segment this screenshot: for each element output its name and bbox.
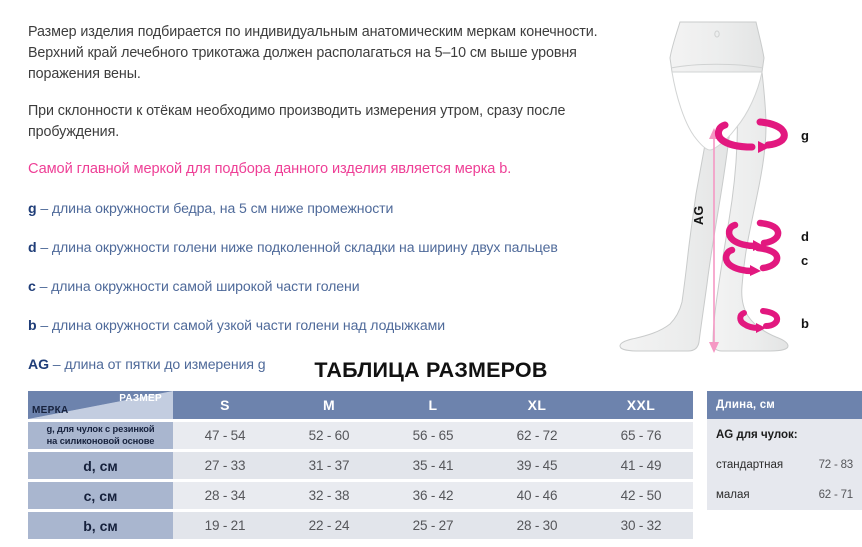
column-header-s: S: [173, 391, 277, 419]
column-header-xl: XL: [485, 391, 589, 419]
measurement-definition-b: b – длина окружности самой узкой части г…: [28, 315, 628, 335]
ag-label: AG: [692, 205, 706, 225]
length-row-standard-value: 72 - 83: [819, 459, 853, 471]
column-header-xxl: XXL: [589, 391, 693, 419]
measurement-key-d: d: [28, 239, 37, 255]
cell-d-xxl: 41 - 49: [589, 452, 693, 479]
measurement-key-b: b: [28, 317, 37, 333]
length-row-standard-label: стандартная: [716, 459, 783, 471]
column-header-m: M: [277, 391, 381, 419]
cell-b-xl: 28 - 30: [485, 512, 589, 539]
size-table-container: РАЗМЕР МЕРКА S M L XL XXL g, для чулок с…: [28, 391, 693, 539]
leg-figure-svg: [596, 10, 862, 360]
measurement-dash-d: –: [40, 239, 48, 255]
table-row: g, для чулок с резинкой на силиконовой о…: [28, 422, 693, 449]
cell-c-xxl: 42 - 50: [589, 482, 693, 509]
cell-g-xxl: 65 - 76: [589, 422, 693, 449]
row-label-g-line2: на силиконовой основе: [28, 436, 173, 448]
cell-g-s: 47 - 54: [173, 422, 277, 449]
measurement-dash-b: –: [40, 317, 48, 333]
highlight-note: Самой главной меркой для подбора данного…: [28, 159, 628, 179]
length-row-small-label: малая: [716, 489, 750, 501]
cell-d-m: 31 - 37: [277, 452, 381, 479]
cell-g-l: 56 - 65: [381, 422, 485, 449]
leg-measurement-diagram: AG g d c b: [596, 10, 862, 360]
cell-c-s: 28 - 34: [173, 482, 277, 509]
length-row-small-value: 62 - 71: [819, 489, 853, 501]
measurement-text-d: длина окружности голени ниже подколенной…: [52, 239, 558, 255]
cell-d-l: 35 - 41: [381, 452, 485, 479]
corner-header-cell: РАЗМЕР МЕРКА: [28, 391, 173, 419]
corner-size-label: РАЗМЕР: [119, 393, 162, 404]
measurement-text-c: длина окружности самой широкой части гол…: [51, 278, 359, 294]
intro-paragraph-2: При склонности к отёкам необходимо произ…: [28, 101, 628, 143]
corner-measure-label: МЕРКА: [32, 405, 69, 416]
length-panel-subtitle-row: AG для чулок:: [716, 419, 853, 450]
column-header-l: L: [381, 391, 485, 419]
page-title: ТАБЛИЦА РАЗМЕРОВ: [0, 358, 862, 383]
cell-c-xl: 40 - 46: [485, 482, 589, 509]
cell-c-m: 32 - 38: [277, 482, 381, 509]
length-row-standard: стандартная 72 - 83: [716, 450, 853, 480]
table-row: d, см 27 - 33 31 - 37 35 - 41 39 - 45 41…: [28, 452, 693, 479]
measurement-dash-c: –: [40, 278, 48, 294]
row-label-c: c, см: [28, 482, 173, 509]
figure-label-g: g: [801, 128, 809, 143]
figure-label-d: d: [801, 229, 809, 244]
cell-g-m: 52 - 60: [277, 422, 381, 449]
measurement-text-b: длина окружности самой узкой части голен…: [52, 317, 445, 333]
length-panel-subtitle: AG для чулок:: [716, 429, 798, 441]
cell-b-l: 25 - 27: [381, 512, 485, 539]
measurement-definition-g: g – длина окружности бедра, на 5 см ниже…: [28, 198, 628, 218]
cell-g-xl: 62 - 72: [485, 422, 589, 449]
size-table: РАЗМЕР МЕРКА S M L XL XXL g, для чулок с…: [28, 391, 693, 539]
row-label-g: g, для чулок с резинкой на силиконовой о…: [28, 422, 173, 449]
measurement-key-c: c: [28, 278, 36, 294]
length-panel-header: Длина, см: [707, 391, 862, 419]
measurement-dash-g: –: [40, 200, 48, 216]
cell-d-xl: 39 - 45: [485, 452, 589, 479]
measurement-definition-d: d – длина окружности голени ниже подколе…: [28, 237, 628, 257]
measurement-key-g: g: [28, 200, 37, 216]
length-panel-body: AG для чулок: стандартная 72 - 83 малая …: [707, 419, 862, 510]
cell-b-m: 22 - 24: [277, 512, 381, 539]
row-label-d: d, см: [28, 452, 173, 479]
row-label-g-line1: g, для чулок с резинкой: [28, 424, 173, 436]
cell-b-xxl: 30 - 32: [589, 512, 693, 539]
size-guide-page: Размер изделия подбирается по индивидуал…: [0, 0, 862, 547]
cell-d-s: 27 - 33: [173, 452, 277, 479]
intro-paragraph-1: Размер изделия подбирается по индивидуал…: [28, 22, 628, 85]
length-row-small: малая 62 - 71: [716, 480, 853, 510]
table-header-row: РАЗМЕР МЕРКА S M L XL XXL: [28, 391, 693, 419]
intro-text-column: Размер изделия подбирается по индивидуал…: [28, 22, 628, 393]
cell-b-s: 19 - 21: [173, 512, 277, 539]
table-row: c, см 28 - 34 32 - 38 36 - 42 40 - 46 42…: [28, 482, 693, 509]
row-label-b: b, см: [28, 512, 173, 539]
table-row: b, см 19 - 21 22 - 24 25 - 27 28 - 30 30…: [28, 512, 693, 539]
length-panel: Длина, см AG для чулок: стандартная 72 -…: [707, 391, 862, 510]
measurement-text-g: длина окружности бедра, на 5 см ниже про…: [52, 200, 393, 216]
measurement-definition-c: c – длина окружности самой широкой части…: [28, 276, 628, 296]
figure-label-c: c: [801, 253, 808, 268]
figure-label-b: b: [801, 316, 809, 331]
cell-c-l: 36 - 42: [381, 482, 485, 509]
